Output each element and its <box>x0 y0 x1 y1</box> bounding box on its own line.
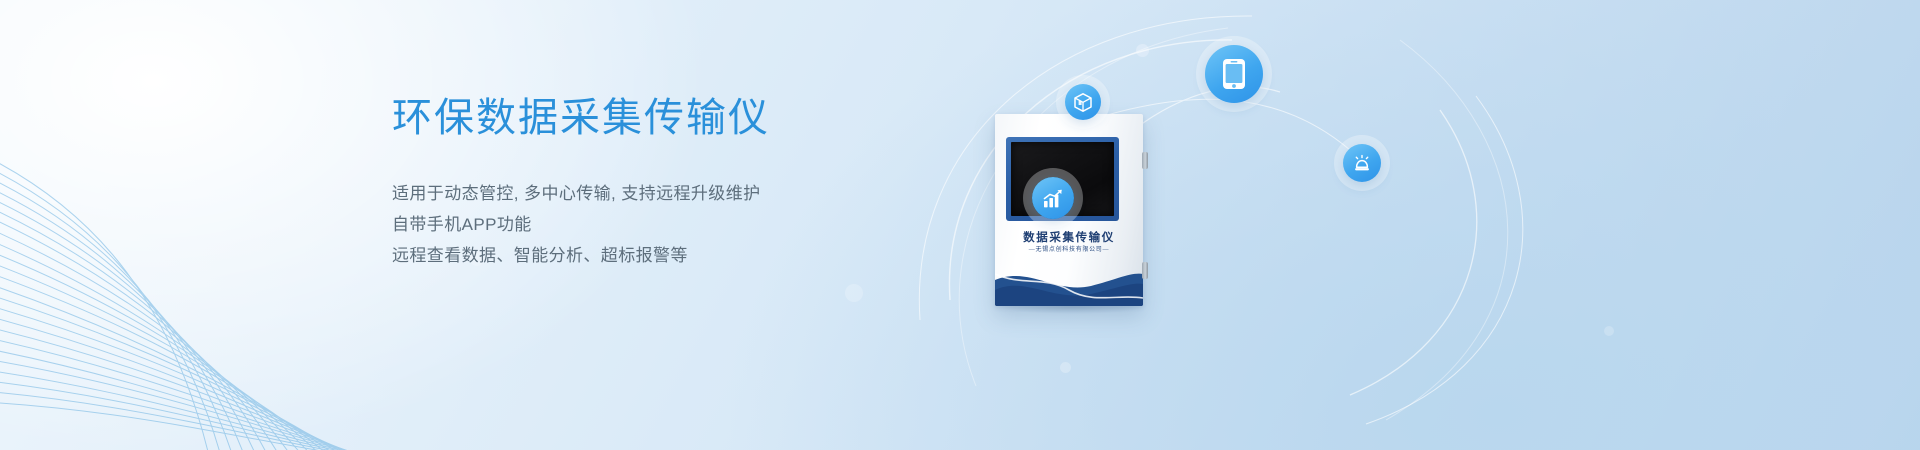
page-title: 环保数据采集传输仪 <box>392 92 912 144</box>
device-nameplate: 数据采集传输仪 —无锡点创科技有限公司— <box>995 231 1143 256</box>
feature-list: 适用于动态管控, 多中心传输, 支持远程升级维护 自带手机APP功能 远程查看数… <box>392 178 912 271</box>
cube-icon[interactable] <box>1065 84 1101 120</box>
bokeh-dot <box>845 284 863 302</box>
device-hinge <box>1142 262 1148 279</box>
device-hinge <box>1142 152 1148 169</box>
smartphone-icon[interactable] <box>1205 45 1263 103</box>
product-banner: 环保数据采集传输仪 适用于动态管控, 多中心传输, 支持远程升级维护 自带手机A… <box>0 0 1920 450</box>
feature-item: 远程查看数据、智能分析、超标报警等 <box>392 240 912 271</box>
feature-item: 自带手机APP功能 <box>392 209 912 240</box>
bar-chart-icon[interactable] <box>1032 177 1074 219</box>
banner-copy: 环保数据采集传输仪 适用于动态管控, 多中心传输, 支持远程升级维护 自带手机A… <box>392 92 912 271</box>
device-footer-graphic <box>995 260 1143 306</box>
alarm-icon[interactable] <box>1343 144 1381 182</box>
product-scene: 数据采集传输仪 —无锡点创科技有限公司— <box>880 0 1640 450</box>
device-label-main: 数据采集传输仪 <box>995 231 1143 245</box>
feature-item: 适用于动态管控, 多中心传输, 支持远程升级维护 <box>392 178 912 209</box>
device-label-sub: —无锡点创科技有限公司— <box>995 245 1143 256</box>
